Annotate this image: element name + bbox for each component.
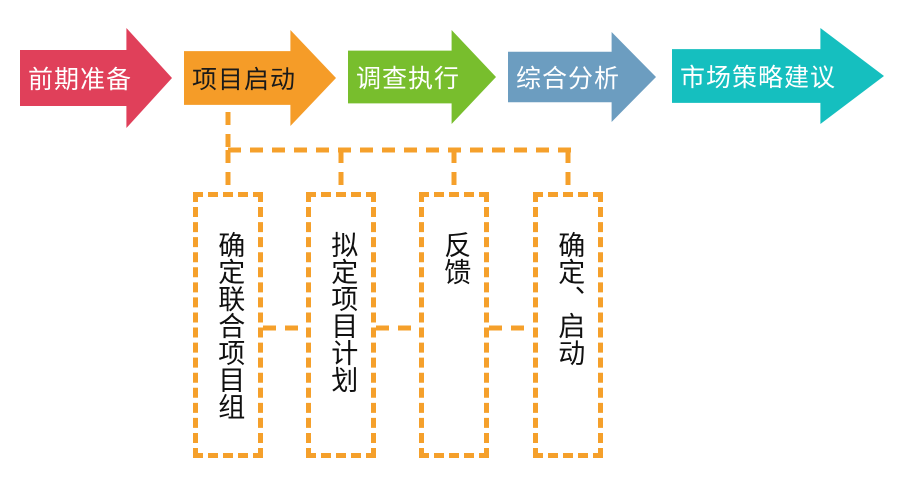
subtask-box-1[interactable]: 确定联合项目组 [193, 192, 263, 458]
subtask-box-2[interactable]: 拟定项目计划 [306, 192, 376, 458]
subtask-box-label: 确定、启动 [554, 231, 583, 366]
subtask-box-label: 拟定项目计划 [327, 231, 356, 393]
flowchart-diagram: 前期准备项目启动调查执行综合分析市场策略建议 确定联合项目组拟定项目计划反馈确定… [0, 0, 900, 480]
subtask-box-row: 确定联合项目组拟定项目计划反馈确定、启动 [0, 0, 900, 480]
subtask-box-3[interactable]: 反馈 [419, 192, 489, 458]
subtask-box-label: 反馈 [440, 231, 469, 285]
subtask-box-4[interactable]: 确定、启动 [533, 192, 603, 458]
subtask-box-label: 确定联合项目组 [214, 231, 243, 420]
